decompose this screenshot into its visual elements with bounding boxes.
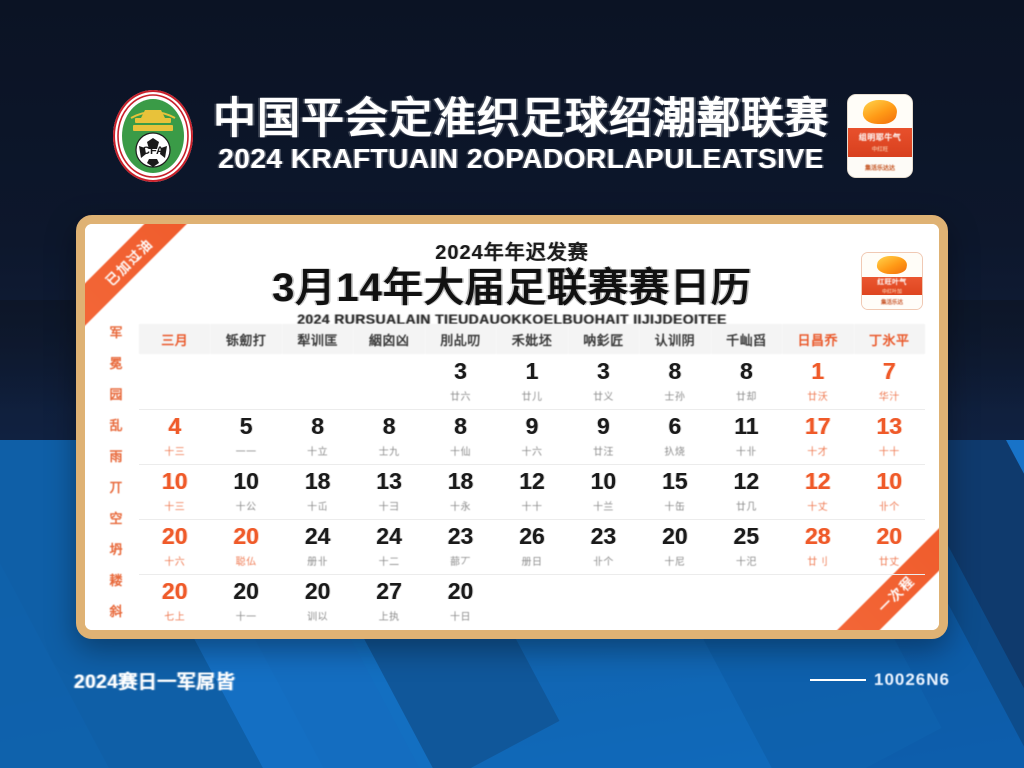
calendar-column-header[interactable]: 三月 — [139, 324, 210, 354]
calendar-day-number: 20 — [210, 580, 281, 603]
calendar-title: 3月14年大届足联赛赛日历 — [85, 266, 939, 310]
calendar-day-lunar: 十屲 — [282, 498, 353, 513]
calendar-day-number: 13 — [353, 470, 424, 493]
side-glyph: 雨 — [109, 446, 122, 465]
calendar-day-number: 24 — [282, 525, 353, 548]
calendar-day-cell[interactable]: 24册卝 — [282, 519, 353, 574]
calendar-column-header[interactable]: 刖乩叨 — [425, 324, 496, 354]
calendar-sponsor-badge: 红旺叶气 中红叶加 集活乐达 — [861, 252, 923, 310]
calendar-day-number: 10 — [568, 470, 639, 493]
calendar-day-number: 20 — [139, 580, 210, 603]
calendar-day-number: 5 — [210, 415, 281, 438]
calendar-day-number: 3 — [568, 360, 639, 383]
calendar-day-lunar: 十缶 — [639, 498, 710, 513]
side-glyph: 坍 — [109, 539, 122, 558]
calendar-day-lunar: 廿儿 — [496, 388, 567, 403]
calendar-day-cell[interactable]: 23卝个 — [568, 519, 639, 574]
calendar-day-cell[interactable]: 8廿却 — [711, 354, 782, 409]
calendar-day-cell[interactable]: 9十六 — [496, 409, 567, 464]
calendar-day-lunar: 卝个 — [854, 498, 925, 513]
calendar-day-lunar: 册日 — [496, 553, 567, 568]
calendar-day-cell[interactable]: 27上执 — [353, 574, 424, 629]
calendar-day-number: 11 — [711, 415, 782, 438]
calendar-badge-middle: 红旺叶气 中红叶加 — [862, 277, 922, 295]
calendar-day-number: 10 — [210, 470, 281, 493]
calendar-day-cell[interactable]: 28廿刂 — [782, 519, 853, 574]
calendar-week-row: 20七上20十一20训以27上执20十日 — [139, 574, 925, 629]
calendar-day-number: 4 — [139, 415, 210, 438]
calendar-day-cell[interactable]: 20廿丈 — [854, 519, 925, 574]
calendar-column-header[interactable]: 千屾舀 — [711, 324, 782, 354]
calendar-day-lunar: 十三 — [139, 498, 210, 513]
calendar-day-cell[interactable]: 11十卝 — [711, 409, 782, 464]
calendar-day-number: 1 — [782, 360, 853, 383]
sponsor-line2: 中红旺 — [872, 145, 889, 153]
calendar-day-cell[interactable]: 8十立 — [282, 409, 353, 464]
calendar-card: 已加过油 一次程 2024年年迟发赛 3月14年大届足联赛赛日历 2024 RU… — [76, 215, 948, 639]
calendar-badge-line2: 中红叶加 — [882, 288, 902, 295]
calendar-day-lunar: 一一 — [210, 443, 281, 458]
calendar-day-cell[interactable]: 1廿沃 — [782, 354, 853, 409]
calendar-day-cell[interactable]: 8十仙 — [425, 409, 496, 464]
calendar-day-number: 8 — [425, 415, 496, 438]
side-glyph-strip: 军冕园乱雨丌空坍耧斜 — [103, 322, 129, 620]
calendar-day-cell-empty — [711, 574, 782, 629]
sponsor-line3: 集活乐达达 — [865, 163, 895, 172]
calendar-table: 三月铄劎打犁训匡絪囟凶刖乩叨禾妣坯呐釤匠认训阴千屾舀日昌乔丁氷平 3廿六1廿儿3… — [139, 324, 925, 629]
calendar-day-lunar: 十一 — [210, 608, 281, 623]
sponsor-line1: 组明耶牛气 — [859, 132, 902, 143]
calendar-day-cell[interactable]: 20十六 — [139, 519, 210, 574]
calendar-day-lunar: 十三 — [139, 443, 210, 458]
calendar-day-lunar: 聪仏 — [210, 553, 281, 568]
footer-right-text: 10026N6 — [874, 670, 950, 690]
calendar-day-number: 8 — [282, 415, 353, 438]
calendar-day-lunar: 十仙 — [425, 443, 496, 458]
calendar-day-lunar: 十十 — [496, 498, 567, 513]
side-glyph: 斜 — [109, 601, 122, 620]
calendar-day-cell[interactable]: 12廿几 — [711, 464, 782, 519]
calendar-day-number: 25 — [711, 525, 782, 548]
calendar-day-number: 3 — [425, 360, 496, 383]
calendar-day-cell-empty — [210, 354, 281, 409]
calendar-day-cell[interactable]: 23蔀丆 — [425, 519, 496, 574]
calendar-week-row: 20十六20聪仏24册卝24十二23蔀丆26册日23卝个20十尼25十汜28廿刂… — [139, 519, 925, 574]
sponsor-badge-top — [848, 95, 912, 128]
calendar-day-number: 23 — [425, 525, 496, 548]
calendar-day-cell[interactable]: 18十永 — [425, 464, 496, 519]
calendar-table-head: 三月铄劎打犁训匡絪囟凶刖乩叨禾妣坯呐釤匠认训阴千屾舀日昌乔丁氷平 — [139, 324, 925, 354]
calendar-day-lunar: 十二 — [353, 553, 424, 568]
side-glyph: 乱 — [109, 415, 122, 434]
calendar-column-header[interactable]: 呐釤匠 — [568, 324, 639, 354]
calendar-column-header[interactable]: 禾妣坯 — [496, 324, 567, 354]
calendar-day-lunar: 卝个 — [568, 553, 639, 568]
calendar-day-number: 7 — [854, 360, 925, 383]
calendar-card-inner: 已加过油 一次程 2024年年迟发赛 3月14年大届足联赛赛日历 2024 RU… — [85, 224, 939, 630]
calendar-badge-line3: 集活乐达 — [881, 298, 903, 306]
page-title-en: 2024 KRAFTUAIN 2OPADORLAPULEATSIVE — [218, 144, 824, 175]
calendar-header-row: 三月铄劎打犁训匡絪囟凶刖乩叨禾妣坯呐釤匠认训阴千屾舀日昌乔丁氷平 — [139, 324, 925, 354]
calendar-column-header[interactable]: 铄劎打 — [210, 324, 281, 354]
calendar-day-number: 20 — [639, 525, 710, 548]
calendar-day-number: 28 — [782, 525, 853, 548]
calendar-day-cell[interactable]: 1廿儿 — [496, 354, 567, 409]
calendar-table-body: 3廿六1廿儿3廿义8士孙8廿却1廿沃7华汁4十三5一一8十立8士九8十仙9十六9… — [139, 354, 925, 629]
calendar-week-row: 3廿六1廿儿3廿义8士孙8廿却1廿沃7华汁 — [139, 354, 925, 409]
side-glyph: 军 — [109, 322, 122, 341]
calendar-day-cell[interactable]: 20十尼 — [639, 519, 710, 574]
calendar-day-lunar: 十立 — [282, 443, 353, 458]
calendar-day-number: 1 — [496, 360, 567, 383]
calendar-day-cell-empty — [139, 354, 210, 409]
calendar-day-lunar: 十公 — [210, 498, 281, 513]
calendar-day-number: 18 — [282, 470, 353, 493]
calendar-day-number: 20 — [210, 525, 281, 548]
calendar-day-cell[interactable]: 4十三 — [139, 409, 210, 464]
calendar-day-cell[interactable]: 24十二 — [353, 519, 424, 574]
calendar-day-number: 12 — [496, 470, 567, 493]
calendar-badge-bottom: 集活乐达 — [862, 295, 922, 309]
calendar-subtitle-top: 2024年年迟发赛 — [85, 236, 939, 265]
calendar-day-lunar: 七上 — [139, 608, 210, 623]
title-block: 中国平会定准织足球绍潮鄯联赛 2024 KRAFTUAIN 2OPADORLAP… — [213, 97, 829, 175]
calendar-badge-top — [862, 253, 922, 277]
svg-text:CFA: CFA — [142, 145, 164, 157]
calendar-day-number: 10 — [139, 470, 210, 493]
side-glyph: 空 — [109, 508, 122, 527]
page-header: CFA 中国平会定准织足球绍潮鄯联赛 2024 KRAFTUAIN 2OPADO… — [0, 86, 1024, 186]
calendar-day-lunar: 廿丈 — [854, 553, 925, 568]
calendar-day-number: 8 — [353, 415, 424, 438]
calendar-day-cell[interactable]: 5一一 — [210, 409, 281, 464]
page-title-cn: 中国平会定准织足球绍潮鄯联赛 — [213, 97, 829, 142]
calendar-column-header[interactable]: 认训阴 — [639, 324, 710, 354]
calendar-day-lunar: 士孙 — [639, 388, 710, 403]
flame-icon — [861, 100, 899, 124]
calendar-day-cell-empty — [854, 574, 925, 629]
calendar-day-cell[interactable]: 18十屲 — [282, 464, 353, 519]
calendar-day-cell-empty — [782, 574, 853, 629]
calendar-week-row: 4十三5一一8十立8士九8十仙9十六9廿汪6扖烧11十卝17十才13十十 — [139, 409, 925, 464]
page-footer: 2024赛日一军屌皆 10026N6 — [0, 660, 1024, 700]
calendar-day-lunar: 十才 — [782, 443, 853, 458]
flame-icon — [875, 256, 908, 274]
calendar-day-number: 12 — [711, 470, 782, 493]
calendar-day-lunar: 训以 — [282, 608, 353, 623]
side-glyph: 丌 — [109, 477, 122, 496]
calendar-day-lunar: 扖烧 — [639, 443, 710, 458]
calendar-badge-line1: 红旺叶气 — [877, 277, 907, 287]
calendar-day-cell[interactable]: 3廿六 — [425, 354, 496, 409]
calendar-day-lunar: 十日 — [425, 608, 496, 623]
calendar-day-lunar: 十汜 — [711, 553, 782, 568]
calendar-day-lunar: 十彐 — [353, 498, 424, 513]
calendar-day-lunar: 廿六 — [425, 388, 496, 403]
calendar-day-number: 27 — [353, 580, 424, 603]
calendar-column-header[interactable]: 日昌乔 — [782, 324, 853, 354]
calendar-column-header[interactable]: 犁训匡 — [282, 324, 353, 354]
side-glyph: 园 — [109, 384, 122, 403]
calendar-day-number: 20 — [139, 525, 210, 548]
calendar-day-cell[interactable]: 12十丈 — [782, 464, 853, 519]
calendar-day-cell[interactable]: 17十才 — [782, 409, 853, 464]
footer-left-text: 2024赛日一军屌皆 — [74, 667, 235, 694]
calendar-day-cell[interactable]: 15十缶 — [639, 464, 710, 519]
calendar-day-cell[interactable]: 9廿汪 — [568, 409, 639, 464]
sponsor-badge-middle: 组明耶牛气 中红旺 — [848, 128, 912, 158]
calendar-day-lunar: 廿汪 — [568, 443, 639, 458]
calendar-grid-wrapper: 三月铄劎打犁训匡絪囟凶刖乩叨禾妣坯呐釤匠认训阴千屾舀日昌乔丁氷平 3廿六1廿儿3… — [139, 324, 925, 629]
calendar-day-cell[interactable]: 20七上 — [139, 574, 210, 629]
side-glyph: 冕 — [109, 353, 122, 372]
horizontal-rule-icon — [810, 679, 866, 681]
calendar-day-cell[interactable]: 3廿义 — [568, 354, 639, 409]
calendar-day-lunar: 廿沃 — [782, 388, 853, 403]
calendar-day-lunar: 蔀丆 — [425, 553, 496, 568]
calendar-day-cell[interactable]: 20训以 — [282, 574, 353, 629]
calendar-day-number: 9 — [568, 415, 639, 438]
sponsor-badge-bottom: 集活乐达达 — [848, 157, 912, 177]
calendar-day-lunar: 廿义 — [568, 388, 639, 403]
calendar-day-number: 15 — [639, 470, 710, 493]
calendar-day-cell[interactable]: 10十三 — [139, 464, 210, 519]
cfa-crest-icon: CFA — [111, 88, 195, 184]
calendar-day-cell[interactable]: 13十十 — [854, 409, 925, 464]
calendar-day-number: 8 — [639, 360, 710, 383]
calendar-day-cell[interactable]: 8士孙 — [639, 354, 710, 409]
calendar-day-cell[interactable]: 8士九 — [353, 409, 424, 464]
calendar-day-cell[interactable]: 20聪仏 — [210, 519, 281, 574]
calendar-day-cell[interactable]: 10十兰 — [568, 464, 639, 519]
calendar-day-number: 18 — [425, 470, 496, 493]
calendar-day-number: 20 — [425, 580, 496, 603]
calendar-day-cell[interactable]: 20十一 — [210, 574, 281, 629]
calendar-day-cell[interactable]: 20十日 — [425, 574, 496, 629]
footer-right: 10026N6 — [810, 670, 950, 690]
calendar-day-cell-empty — [568, 574, 639, 629]
calendar-day-cell[interactable]: 6扖烧 — [639, 409, 710, 464]
calendar-header: 2024年年迟发赛 3月14年大届足联赛赛日历 2024 RURSUALAIN … — [85, 224, 939, 327]
calendar-day-lunar: 十六 — [496, 443, 567, 458]
calendar-day-cell[interactable]: 12十十 — [496, 464, 567, 519]
calendar-day-cell-empty — [282, 354, 353, 409]
calendar-day-lunar: 十永 — [425, 498, 496, 513]
calendar-day-lunar: 士九 — [353, 443, 424, 458]
calendar-day-lunar: 十六 — [139, 553, 210, 568]
calendar-day-number: 23 — [568, 525, 639, 548]
calendar-column-header[interactable]: 丁氷平 — [854, 324, 925, 354]
calendar-day-number: 6 — [639, 415, 710, 438]
calendar-day-lunar: 十兰 — [568, 498, 639, 513]
calendar-day-cell[interactable]: 26册日 — [496, 519, 567, 574]
calendar-day-cell-empty — [496, 574, 567, 629]
calendar-day-number: 20 — [854, 525, 925, 548]
calendar-day-lunar: 十卝 — [711, 443, 782, 458]
calendar-day-cell[interactable]: 10卝个 — [854, 464, 925, 519]
calendar-day-number: 12 — [782, 470, 853, 493]
calendar-day-number: 26 — [496, 525, 567, 548]
calendar-column-header[interactable]: 絪囟凶 — [353, 324, 424, 354]
calendar-day-cell[interactable]: 7华汁 — [854, 354, 925, 409]
calendar-day-number: 10 — [854, 470, 925, 493]
side-glyph: 耧 — [109, 570, 122, 589]
calendar-day-lunar: 廿却 — [711, 388, 782, 403]
calendar-day-lunar: 廿几 — [711, 498, 782, 513]
calendar-week-row: 10十三10十公18十屲13十彐18十永12十十10十兰15十缶12廿几12十丈… — [139, 464, 925, 519]
calendar-day-number: 17 — [782, 415, 853, 438]
calendar-day-cell[interactable]: 25十汜 — [711, 519, 782, 574]
calendar-day-number: 20 — [282, 580, 353, 603]
calendar-day-lunar: 册卝 — [282, 553, 353, 568]
calendar-day-lunar: 华汁 — [854, 388, 925, 403]
calendar-day-lunar: 十尼 — [639, 553, 710, 568]
calendar-day-number: 8 — [711, 360, 782, 383]
calendar-day-lunar: 十丈 — [782, 498, 853, 513]
calendar-day-cell-empty — [353, 354, 424, 409]
calendar-day-number: 9 — [496, 415, 567, 438]
sponsor-badge: 组明耶牛气 中红旺 集活乐达达 — [847, 94, 913, 178]
calendar-day-lunar: 上执 — [353, 608, 424, 623]
calendar-day-cell-empty — [639, 574, 710, 629]
calendar-day-number: 13 — [854, 415, 925, 438]
calendar-day-cell[interactable]: 10十公 — [210, 464, 281, 519]
calendar-day-number: 24 — [353, 525, 424, 548]
calendar-day-cell[interactable]: 13十彐 — [353, 464, 424, 519]
calendar-day-lunar: 十十 — [854, 443, 925, 458]
calendar-day-lunar: 廿刂 — [782, 553, 853, 568]
